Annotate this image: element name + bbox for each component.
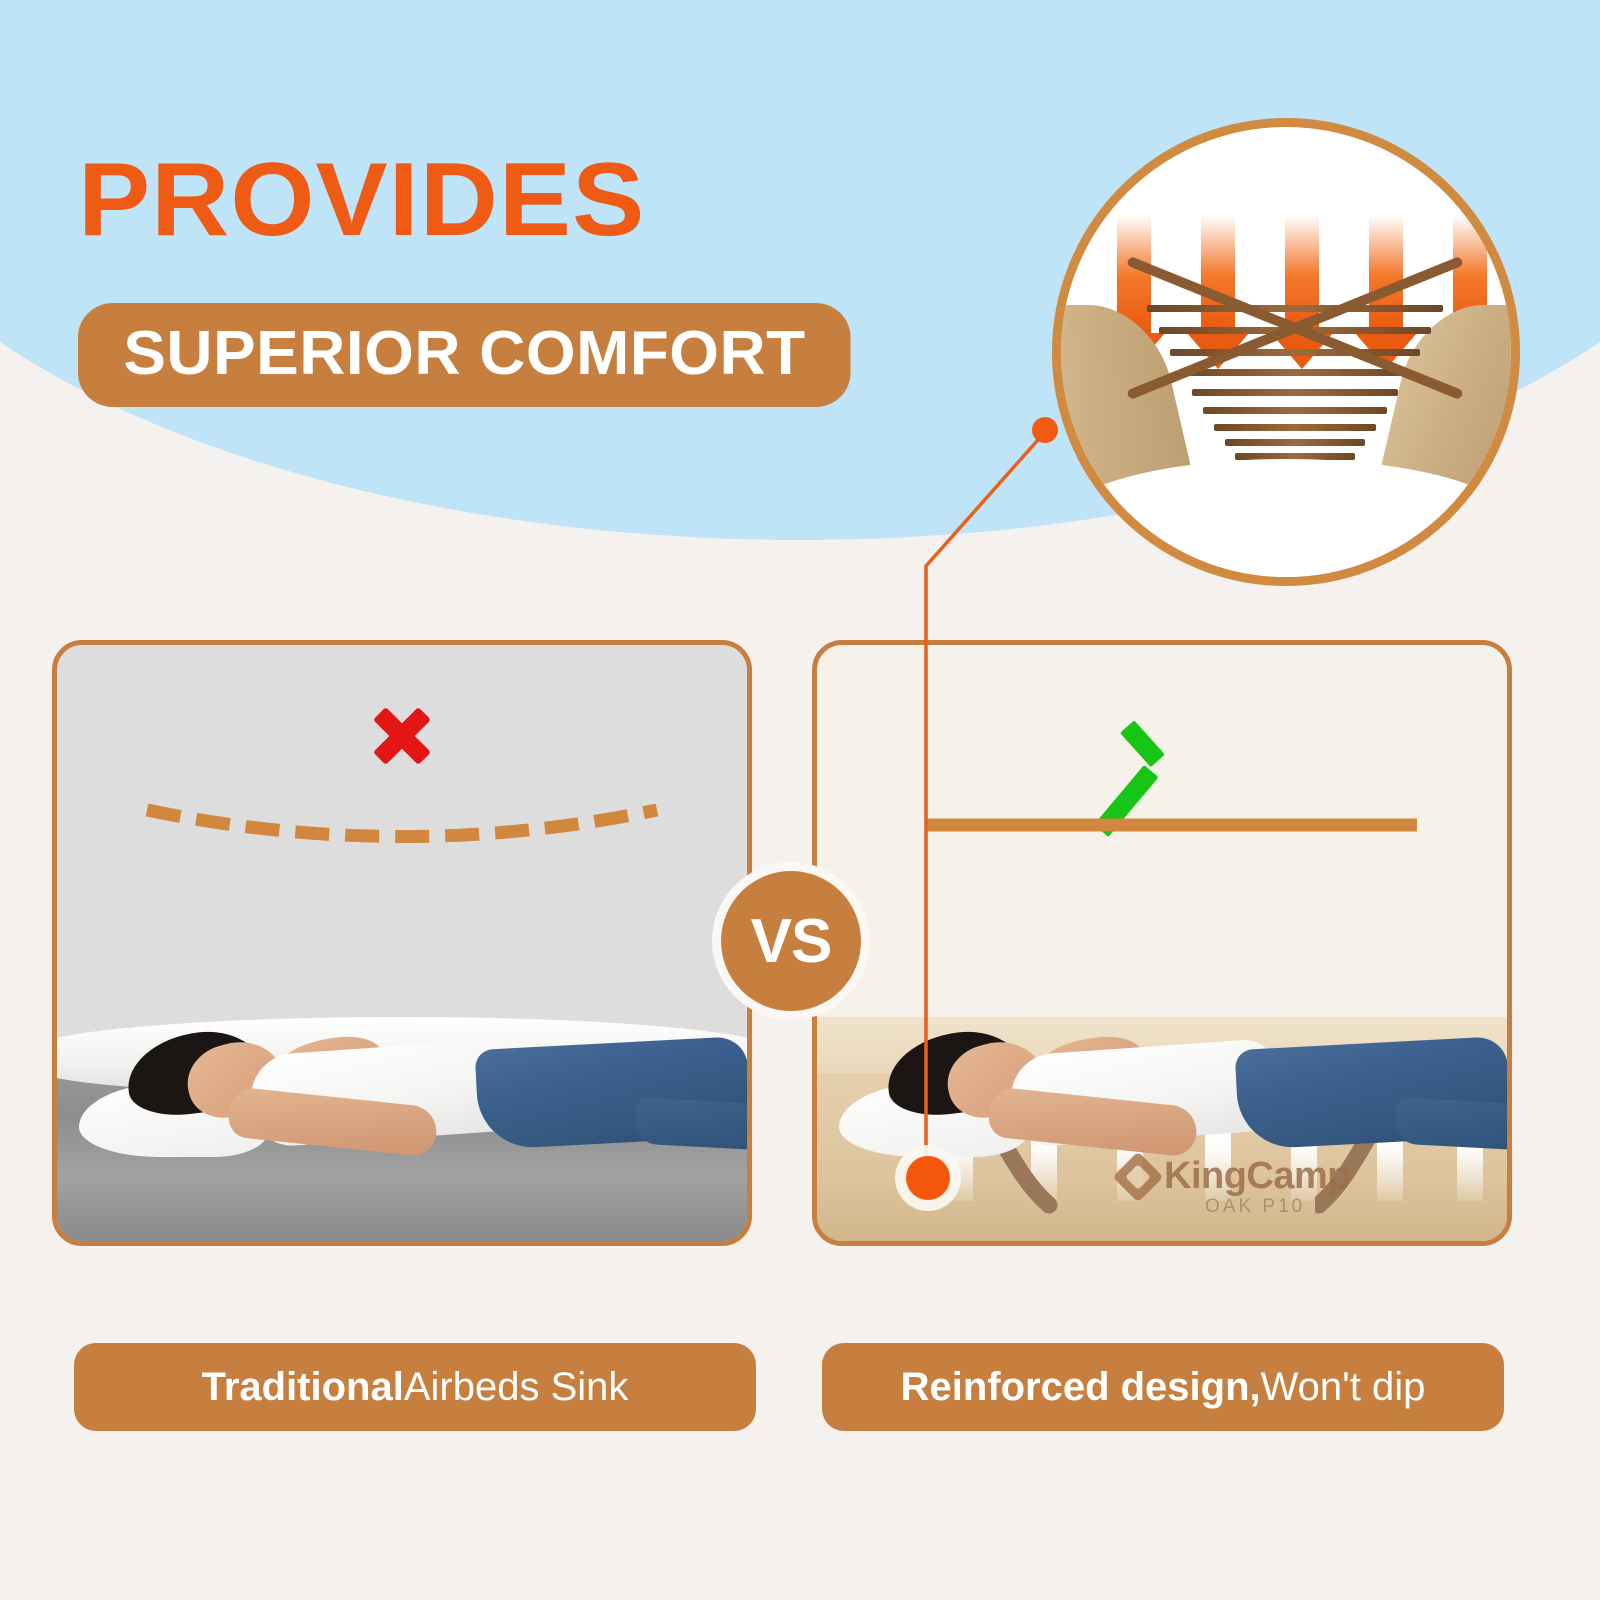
inset-illustration bbox=[1061, 127, 1511, 577]
subtitle-badge: SUPERIOR COMFORT bbox=[78, 303, 851, 407]
caption-reinforced: Reinforced design, Won't dip bbox=[822, 1343, 1504, 1431]
person-lying-figure bbox=[79, 995, 739, 1145]
traditional-airbed-scene bbox=[57, 941, 747, 1241]
inset-floor bbox=[1061, 459, 1511, 586]
caption-right-bold: Reinforced design, bbox=[901, 1365, 1261, 1410]
kingcamp-diamond-icon bbox=[1113, 1151, 1164, 1202]
caption-left-rest: Airbeds Sink bbox=[404, 1365, 629, 1410]
person-lying-figure bbox=[839, 995, 1499, 1145]
caption-right-rest: Won't dip bbox=[1261, 1365, 1426, 1410]
page-title: PROVIDES bbox=[78, 148, 645, 252]
kingcamp-wordmark: KingCamp bbox=[1164, 1155, 1350, 1198]
caption-traditional: Traditional Airbeds Sink bbox=[74, 1343, 756, 1431]
comparison-panel-traditional bbox=[52, 640, 752, 1246]
coil-structure-inset bbox=[1052, 118, 1520, 586]
vs-badge: VS bbox=[712, 862, 870, 1020]
caption-left-bold: Traditional bbox=[202, 1365, 404, 1410]
kingcamp-logo: KingCamp bbox=[1120, 1155, 1350, 1198]
kingcamp-model-label: OAK P10 bbox=[1205, 1196, 1305, 1218]
